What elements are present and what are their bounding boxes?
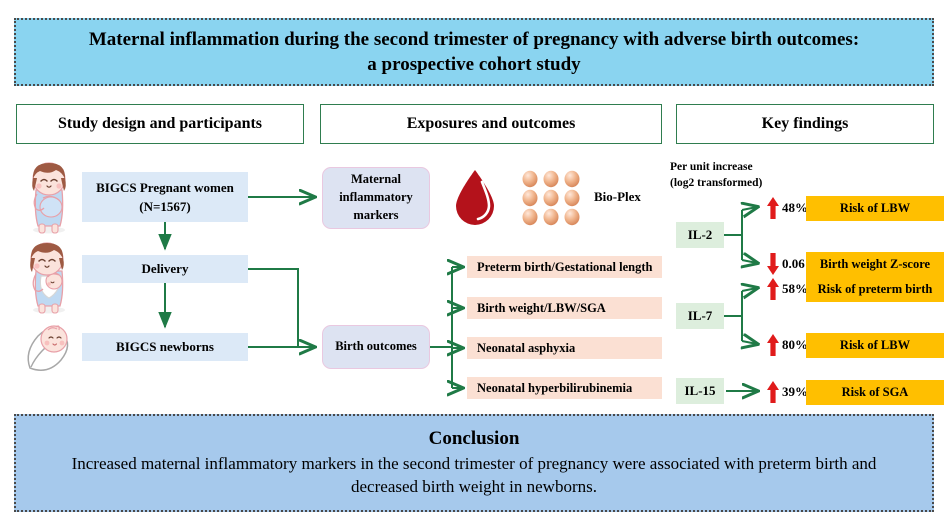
markers-line-1: Maternal xyxy=(351,172,401,186)
blood-drop-icon xyxy=(452,168,498,226)
per-unit-increase-note: Per unit increase (log2 transformed) xyxy=(670,160,762,192)
title-line-2: a prospective cohort study xyxy=(367,54,580,75)
finding-bar: Risk of LBW xyxy=(806,333,944,358)
markers-line-2: inflammatory xyxy=(339,190,413,204)
section-header-exposures-outcomes: Exposures and outcomes xyxy=(320,104,662,144)
outcome-bar: Neonatal hyperbilirubinemia xyxy=(467,377,662,399)
page-title: Maternal inflammation during the second … xyxy=(75,27,873,77)
title-line-1: Maternal inflammation during the second … xyxy=(89,29,859,50)
effect-value: 48% xyxy=(782,200,808,216)
section-header-key-findings: Key findings xyxy=(676,104,934,144)
finding-bar: Birth weight Z-score xyxy=(806,252,944,277)
arrow-up-icon xyxy=(766,380,780,404)
conclusion-banner: Conclusion Increased maternal inflammato… xyxy=(14,414,934,512)
effect-value-group: 80% xyxy=(766,333,808,357)
swaddled-newborn-icon xyxy=(18,318,80,380)
conclusion-body: Increased maternal inflammatory markers … xyxy=(16,453,932,499)
effect-value: 80% xyxy=(782,337,808,353)
title-banner: Maternal inflammation during the second … xyxy=(14,18,934,86)
effect-value: 58% xyxy=(782,281,808,297)
flow-box-newborns: BIGCS newborns xyxy=(82,333,248,361)
mother-with-baby-icon xyxy=(18,240,80,316)
effect-value: 0.06 xyxy=(782,256,805,272)
flow-box-pregnant-women: BIGCS Pregnant women (N=1567) xyxy=(82,172,248,222)
pregnant-women-label: BIGCS Pregnant women xyxy=(96,178,234,198)
pregnant-woman-icon xyxy=(18,160,80,236)
bio-plex-bead-array-icon xyxy=(520,170,584,226)
arrow-up-icon xyxy=(766,196,780,220)
marker-label-il2: IL-2 xyxy=(676,222,724,248)
conclusion-heading: Conclusion xyxy=(429,428,520,450)
effect-value-group: 58% xyxy=(766,277,808,301)
box-birth-outcomes: Birth outcomes xyxy=(322,325,430,369)
finding-bar: Risk of SGA xyxy=(806,380,944,405)
arrow-up-icon xyxy=(766,333,780,357)
marker-label-il15: IL-15 xyxy=(676,378,724,404)
effect-value-il15: 39% xyxy=(782,384,808,400)
arrow-up-icon xyxy=(766,277,780,301)
pregnant-women-count: (N=1567) xyxy=(139,197,190,217)
effect-value-group: 39% xyxy=(766,380,808,404)
outcome-bar: Birth weight/LBW/SGA xyxy=(467,297,662,319)
arrow-down-icon xyxy=(766,252,780,276)
finding-bar: Risk of LBW xyxy=(806,196,944,221)
effect-value-group: 48% xyxy=(766,196,808,220)
finding-bar: Risk of preterm birth xyxy=(806,277,944,302)
bio-plex-label: Bio-Plex xyxy=(594,189,641,205)
outcome-bar: Neonatal asphyxia xyxy=(467,337,662,359)
markers-line-3: markers xyxy=(353,208,398,222)
marker-label-il7: IL-7 xyxy=(676,303,724,329)
effect-value-group: 0.06 xyxy=(766,252,805,276)
box-maternal-inflammatory-markers: Maternal inflammatory markers xyxy=(322,167,430,229)
section-header-study-design: Study design and participants xyxy=(16,104,304,144)
flow-box-delivery: Delivery xyxy=(82,255,248,283)
outcome-bar: Preterm birth/Gestational length xyxy=(467,256,662,278)
